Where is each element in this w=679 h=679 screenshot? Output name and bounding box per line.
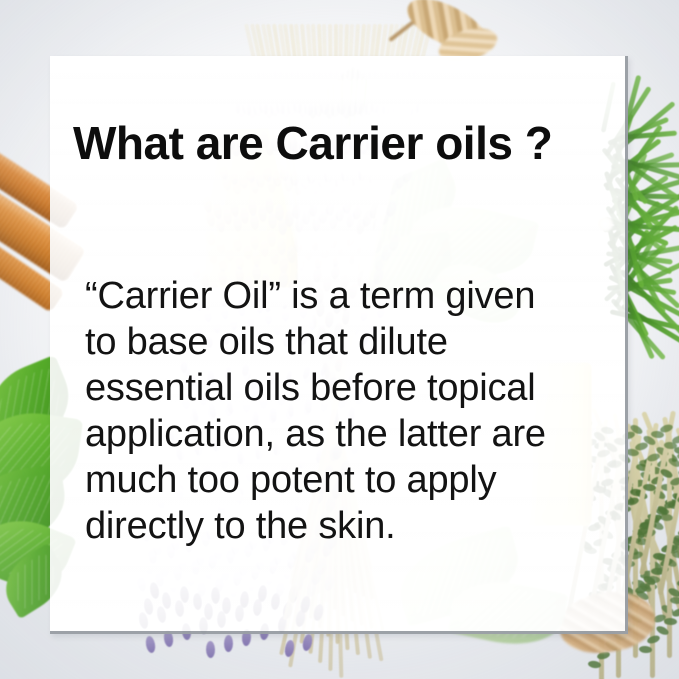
page-title: What are Carrier oils ? — [73, 118, 633, 170]
body-paragraph: “Carrier Oil” is a term given to base oi… — [85, 273, 633, 549]
infographic-image: What are Carrier oils ? “Carrier Oil” is… — [0, 0, 679, 679]
copy-block: What are Carrier oils ? “Carrier Oil” is… — [73, 118, 633, 170]
